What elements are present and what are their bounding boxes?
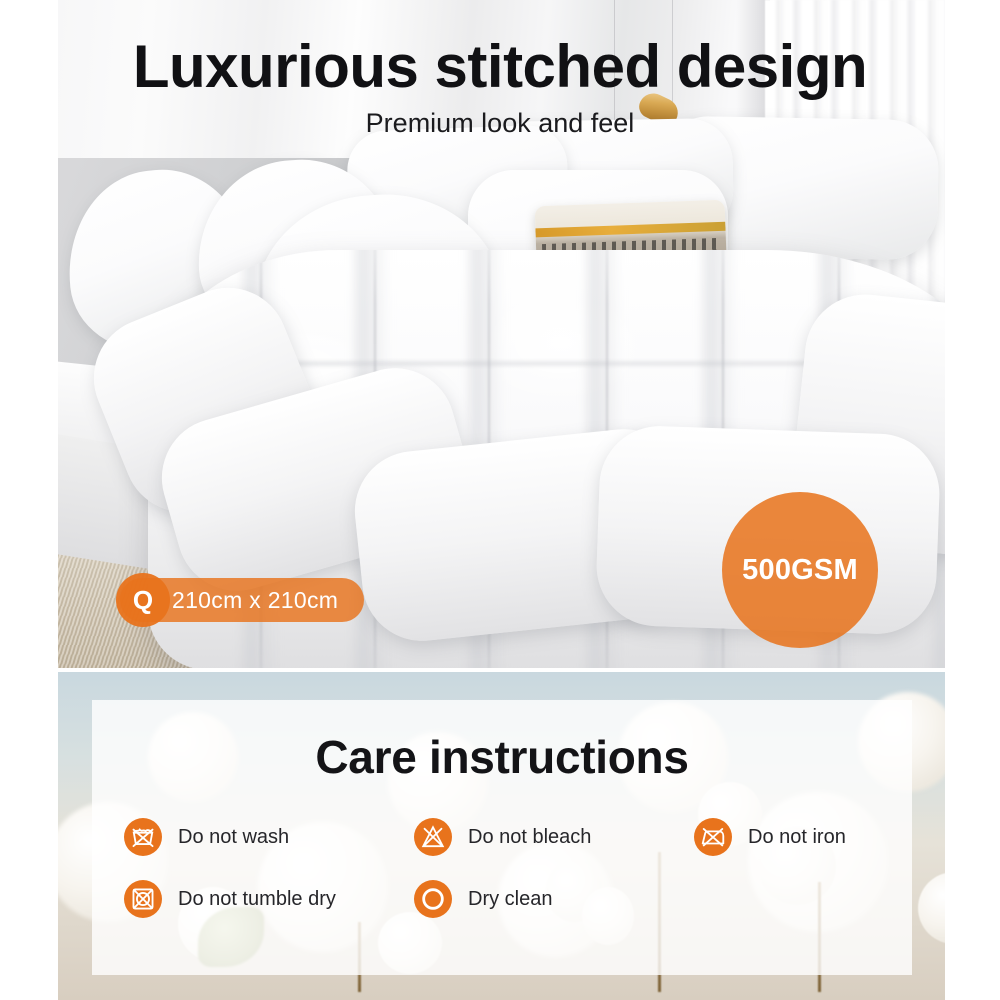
gsm-badge-label: 500GSM [742,554,858,587]
cushion-gold-stripe [535,222,725,238]
care-instructions-title: Care instructions [92,730,912,784]
care-item-label: Do not bleach [468,826,591,849]
care-item-label: Dry clean [468,888,552,911]
product-listing-image: Luxurious stitched design Premium look a… [0,0,1000,1000]
gsm-badge: 500GSM [722,492,878,648]
hero-subheadline: Premium look and feel [0,108,1000,139]
size-dimensions-label: 210cm x 210cm [172,587,338,614]
dry-clean-icon [414,880,452,918]
care-item-do-not-iron: Do not iron [694,818,884,856]
size-badge: Q 210cm x 210cm [120,578,364,622]
hero-headline: Luxurious stitched design [0,32,1000,101]
do-not-tumble-dry-icon [124,880,162,918]
care-item-label: Do not tumble dry [178,888,336,911]
size-initial-circle: Q [116,573,170,627]
do-not-iron-icon [694,818,732,856]
care-item-do-not-bleach: Do not bleach [414,818,694,856]
care-row: Do not wash Do not bleach [124,818,884,856]
care-item-label: Do not iron [748,826,846,849]
care-row: Do not tumble dry Dry clean [124,880,884,918]
care-item-do-not-wash: Do not wash [124,818,414,856]
cotton-field-photo: Care instructions Do not wash [58,672,945,1000]
care-item-dry-clean: Dry clean [414,880,694,918]
do-not-wash-icon [124,818,162,856]
care-item-label: Do not wash [178,826,289,849]
care-item-do-not-tumble-dry: Do not tumble dry [124,880,414,918]
care-instructions-grid: Do not wash Do not bleach [124,818,884,942]
do-not-bleach-icon [414,818,452,856]
care-instructions-card: Care instructions Do not wash [92,700,912,975]
